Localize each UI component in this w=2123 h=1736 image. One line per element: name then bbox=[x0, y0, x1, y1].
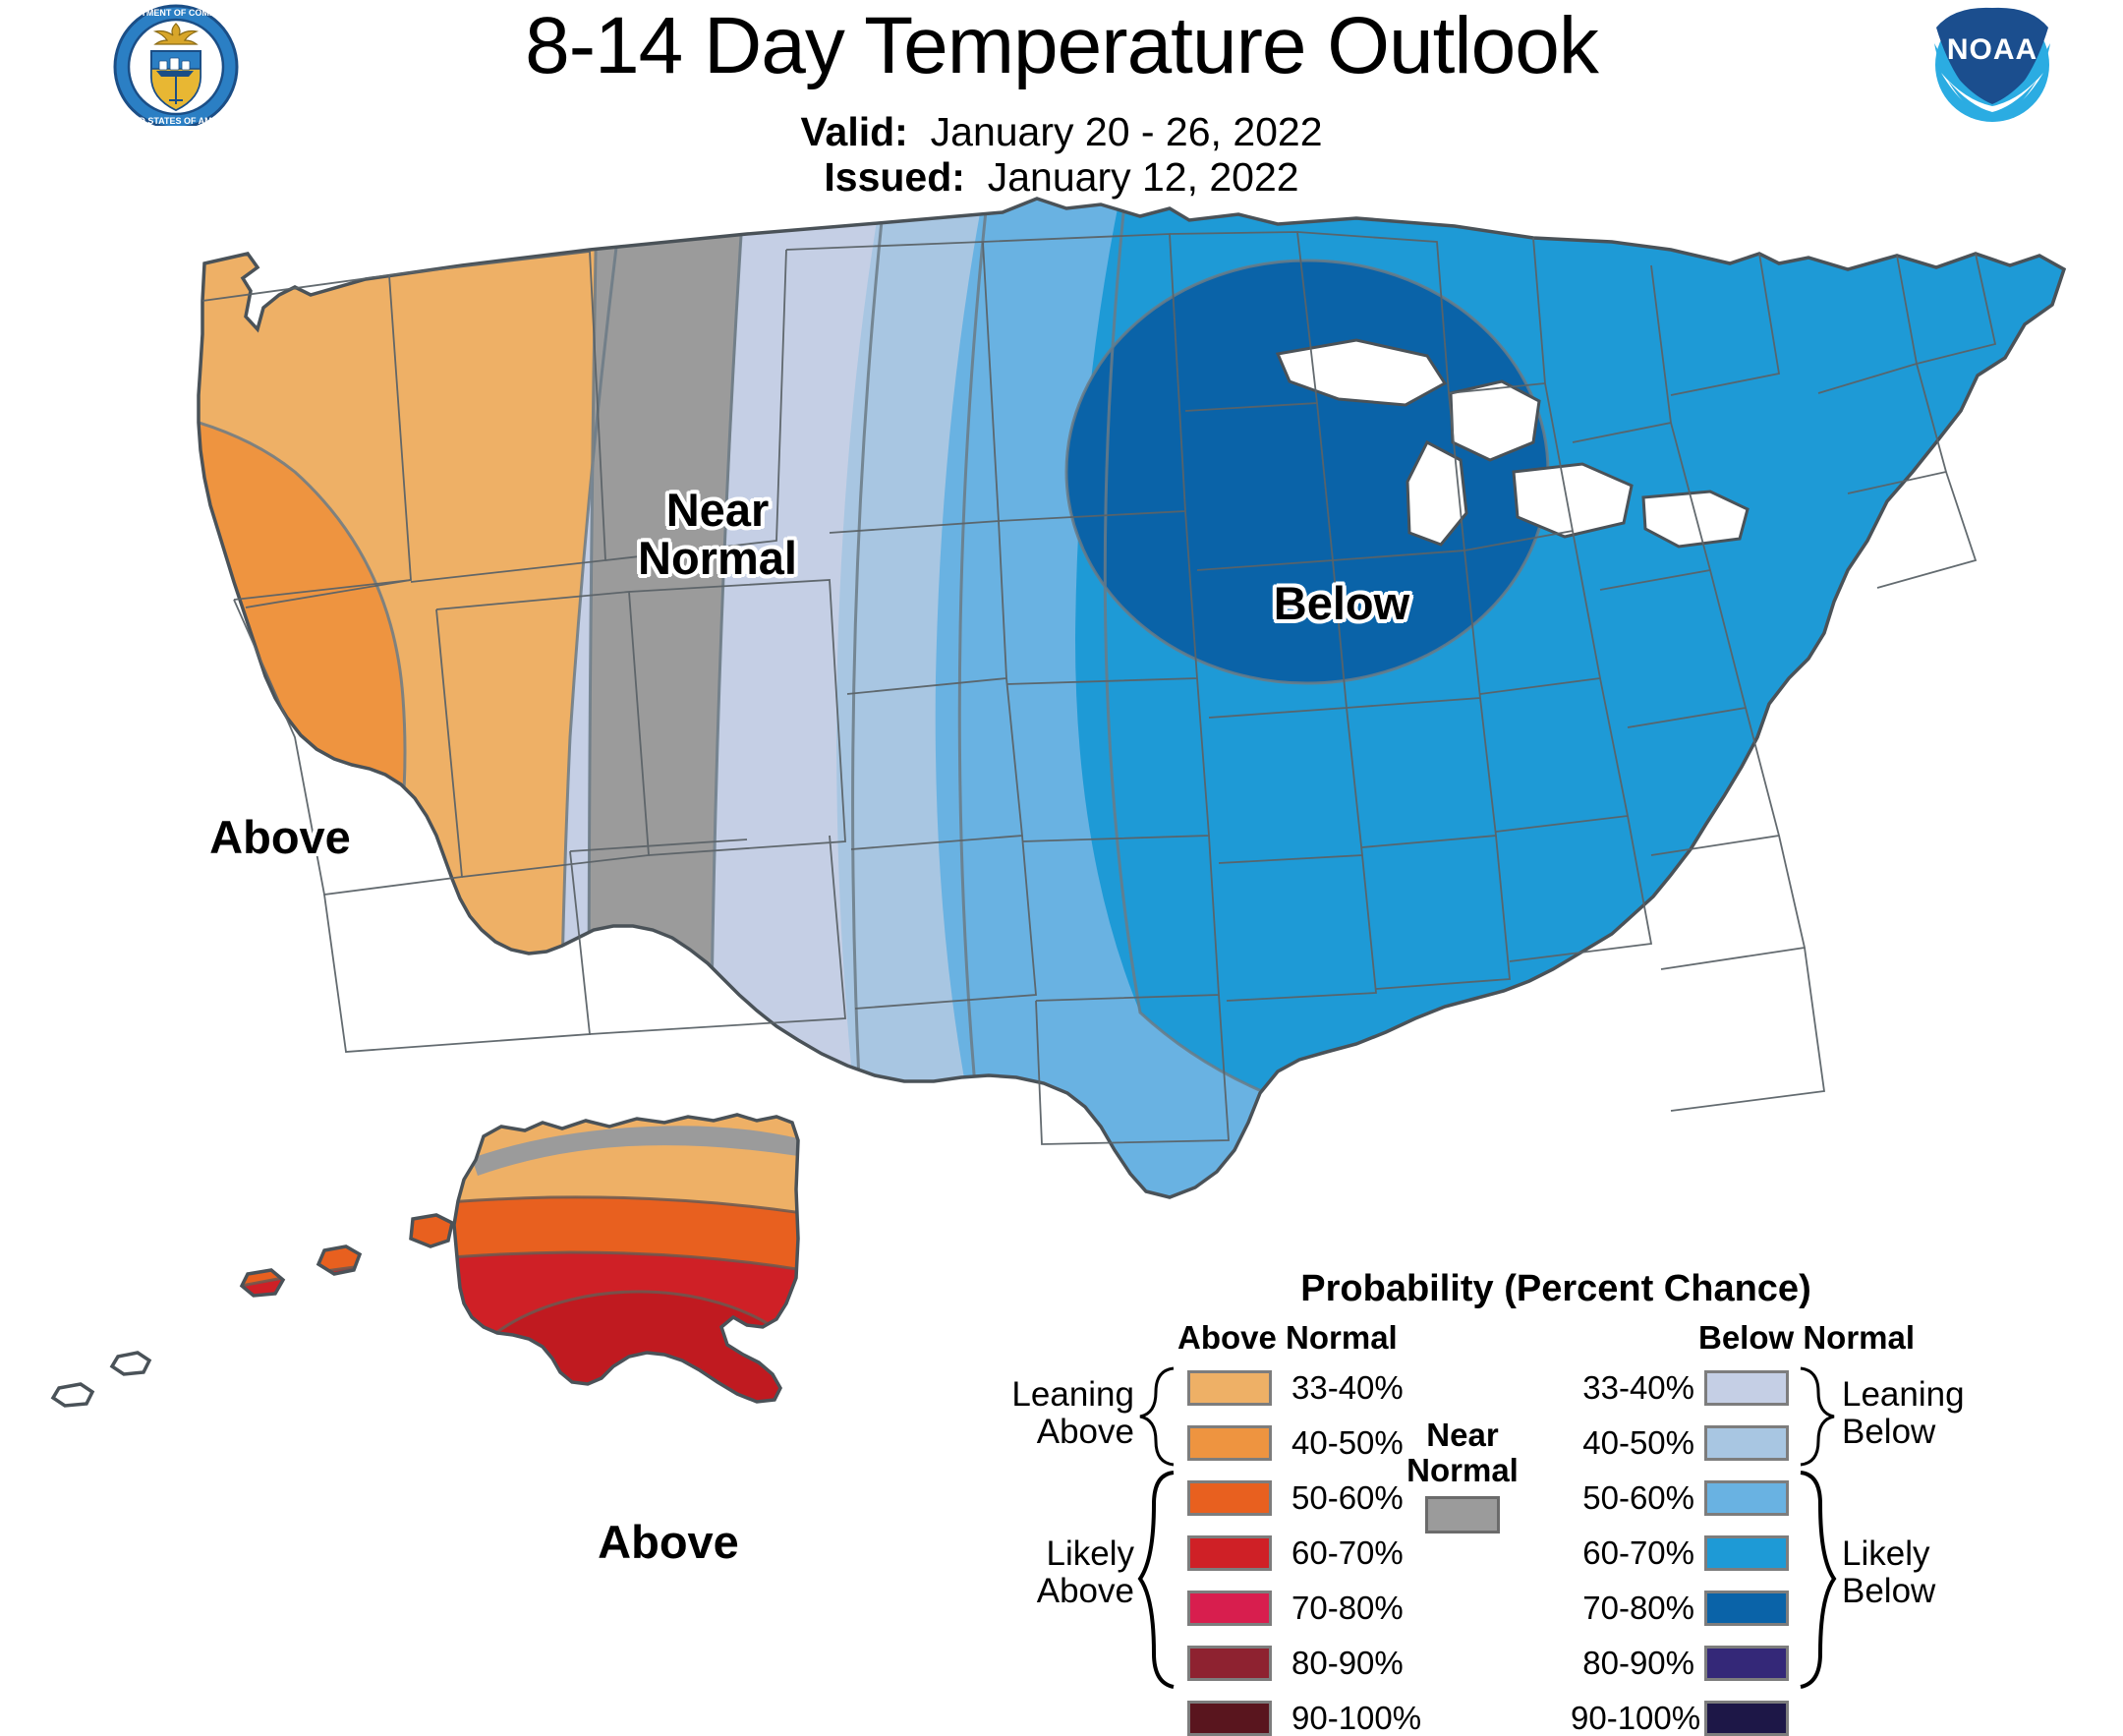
map-label-below: Below bbox=[1234, 580, 1450, 628]
legend-swatch-above-40to50 bbox=[1187, 1425, 1272, 1461]
legend-pct-below-70to80: 70-80% bbox=[1571, 1591, 1694, 1626]
page-title: 8-14 Day Temperature Outlook bbox=[0, 6, 2123, 87]
legend-near-normal: Near Normal bbox=[1389, 1418, 1536, 1487]
legend-pct-above-40to50: 40-50% bbox=[1291, 1425, 1404, 1461]
legend-swatch-below-80to90 bbox=[1704, 1646, 1789, 1681]
legend: Probability (Percent Chance) Above Norma… bbox=[1001, 1268, 2111, 1685]
legend-pct-above-60to70: 60-70% bbox=[1291, 1535, 1404, 1571]
legend-swatch-below-50to60 bbox=[1704, 1480, 1789, 1516]
legend-header-below: Below Normal bbox=[1698, 1319, 1915, 1357]
legend-swatch-above-70to80 bbox=[1187, 1591, 1272, 1626]
legend-swatch-above-80to90 bbox=[1187, 1646, 1272, 1681]
conus-probability-bands bbox=[0, 147, 2123, 1416]
brace-leaning-below-icon bbox=[1797, 1366, 1838, 1467]
legend-brace-label-likely-below: Likely Below bbox=[1842, 1535, 2088, 1610]
legend-pct-below-50to60: 50-60% bbox=[1571, 1480, 1694, 1516]
band-near-normal-florida bbox=[1809, 1160, 1867, 1217]
brace-likely-above-icon bbox=[1136, 1471, 1177, 1689]
legend-swatch-above-90to100 bbox=[1187, 1701, 1272, 1736]
legend-pct-below-60to70: 60-70% bbox=[1571, 1535, 1694, 1571]
map-label-above-alaska: Above bbox=[550, 1519, 786, 1567]
map-svg bbox=[0, 147, 2123, 1416]
legend-pct-above-50to60: 50-60% bbox=[1291, 1480, 1404, 1516]
legend-swatch-below-70to80 bbox=[1704, 1591, 1789, 1626]
map-label-near-normal: Near Normal bbox=[590, 487, 845, 583]
legend-brace-label-leaning-above: Leaning Above bbox=[1001, 1376, 1134, 1451]
legend-pct-above-70to80: 70-80% bbox=[1291, 1591, 1404, 1626]
legend-swatch-below-60to70 bbox=[1704, 1535, 1789, 1571]
legend-swatch-above-50to60 bbox=[1187, 1480, 1272, 1516]
legend-swatch-below-33to40 bbox=[1704, 1370, 1789, 1406]
outlook-map: Near Normal Above Below Above bbox=[0, 147, 2123, 1416]
legend-pct-above-33to40: 33-40% bbox=[1291, 1370, 1404, 1406]
map-label-above-west: Above bbox=[162, 814, 398, 862]
alaska-probability-bands bbox=[197, 1091, 885, 1416]
legend-pct-below-80to90: 80-90% bbox=[1571, 1646, 1694, 1681]
legend-pct-above-90to100: 90-100% bbox=[1291, 1701, 1421, 1736]
legend-swatch-below-90to100 bbox=[1704, 1701, 1789, 1736]
legend-pct-below-90to100: 90-100% bbox=[1571, 1701, 1694, 1736]
legend-swatch-above-33to40 bbox=[1187, 1370, 1272, 1406]
legend-near-normal-label: Near Normal bbox=[1389, 1418, 1536, 1487]
brace-likely-below-icon bbox=[1797, 1471, 1838, 1689]
legend-swatch-below-40to50 bbox=[1704, 1425, 1789, 1461]
legend-title: Probability (Percent Chance) bbox=[1001, 1268, 2111, 1310]
brace-leaning-above-icon bbox=[1136, 1366, 1177, 1467]
legend-brace-label-leaning-below: Leaning Below bbox=[1842, 1376, 2088, 1451]
legend-pct-below-33to40: 33-40% bbox=[1571, 1370, 1694, 1406]
legend-swatch-above-60to70 bbox=[1187, 1535, 1272, 1571]
legend-pct-below-40to50: 40-50% bbox=[1571, 1425, 1694, 1461]
legend-header-above: Above Normal bbox=[1177, 1319, 1398, 1357]
legend-swatch-near-normal bbox=[1425, 1496, 1500, 1533]
legend-pct-above-80to90: 80-90% bbox=[1291, 1646, 1404, 1681]
legend-brace-label-likely-above: Likely Above bbox=[1001, 1535, 1134, 1610]
